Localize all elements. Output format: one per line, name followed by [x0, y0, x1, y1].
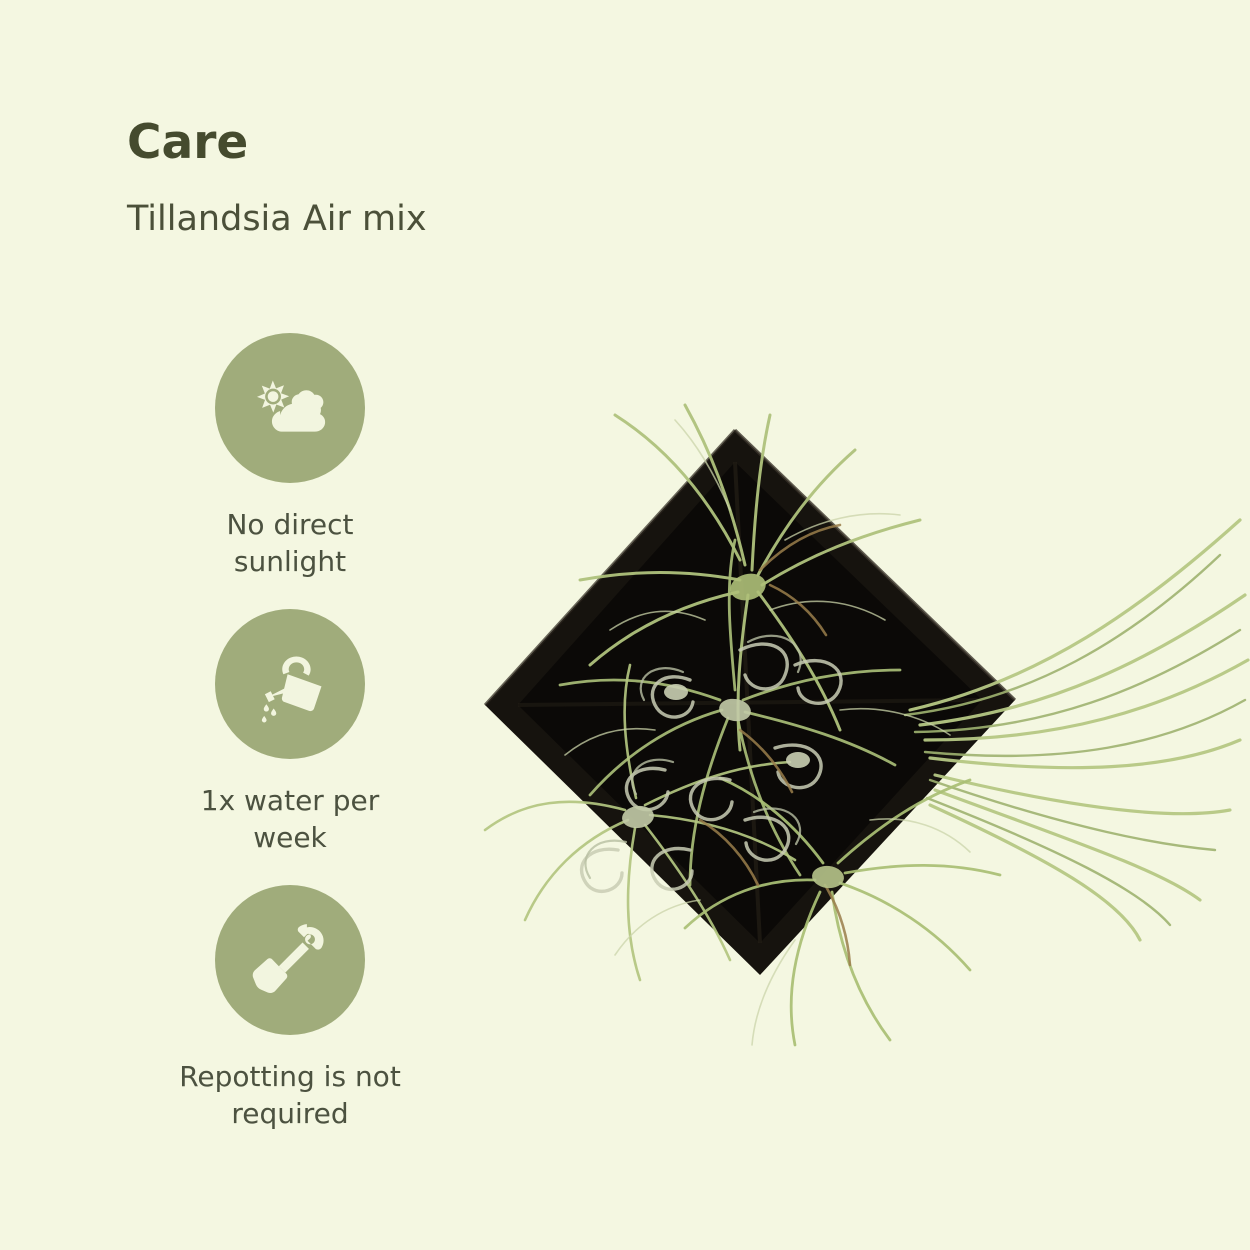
sun-behind-cloud-icon — [247, 365, 333, 451]
tillandsia-foliage — [485, 405, 1248, 1045]
care-infographic-page: Care Tillandsia Air mix — [0, 0, 1250, 1250]
care-item-label-line1: 1x water per — [140, 783, 440, 820]
care-icon-badge — [215, 333, 365, 483]
care-item-repotting: Repotting is not required — [140, 885, 440, 1133]
care-item-label-line1: No direct — [140, 507, 440, 544]
care-item-list: No direct sunlight — [140, 333, 440, 1161]
page-title: Care — [127, 118, 727, 167]
header: Care Tillandsia Air mix — [127, 118, 727, 239]
plant-product-photo — [440, 380, 1250, 1080]
rosette-cores — [621, 570, 845, 890]
page-subtitle: Tillandsia Air mix — [127, 167, 727, 239]
shovel-icon — [249, 919, 331, 1001]
care-item-label-line2: week — [140, 820, 440, 857]
tray — [485, 430, 1015, 975]
care-item-label-line2: required — [140, 1096, 440, 1133]
care-item-label-line1: Repotting is not — [140, 1059, 440, 1096]
care-item-watering: 1x water per week — [140, 609, 440, 857]
care-item-label: No direct sunlight — [140, 507, 440, 581]
care-item-label: 1x water per week — [140, 783, 440, 857]
care-item-sunlight: No direct sunlight — [140, 333, 440, 581]
care-icon-badge — [215, 609, 365, 759]
watering-can-icon — [247, 641, 333, 727]
care-item-label-line2: sunlight — [140, 544, 440, 581]
care-icon-badge — [215, 885, 365, 1035]
care-item-label: Repotting is not required — [140, 1059, 440, 1133]
